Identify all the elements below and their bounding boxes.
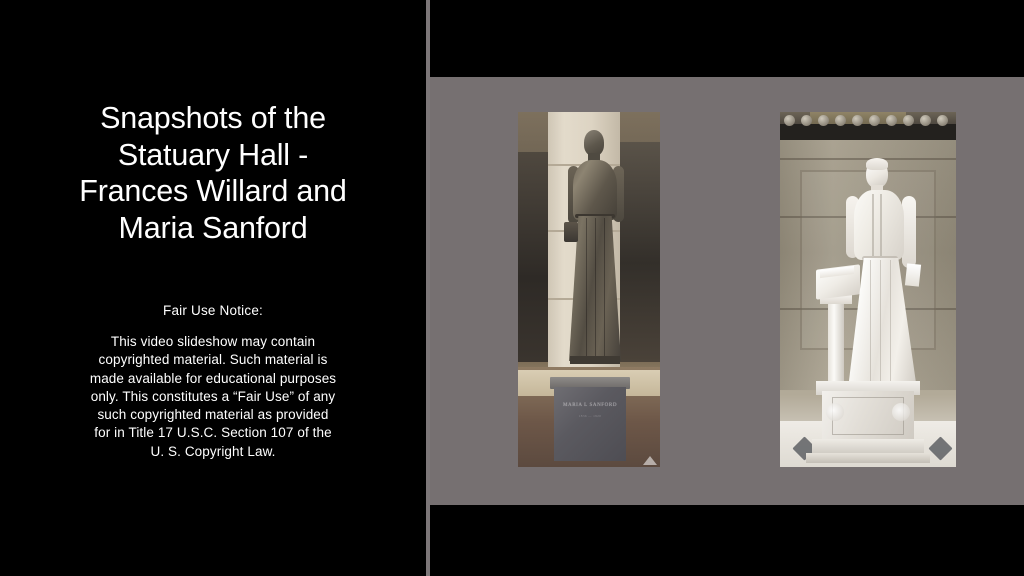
title-line-1: Snapshots of the bbox=[40, 100, 386, 137]
willard-garland-ornament bbox=[892, 403, 910, 421]
willard-bodice-fold bbox=[880, 194, 882, 256]
sanford-drape-fold bbox=[604, 218, 605, 358]
sanford-held-book bbox=[564, 222, 578, 242]
sanford-granite-pedestal: MARIA L SANFORD 1836 — 1920 bbox=[554, 387, 626, 461]
willard-skirt-fold bbox=[880, 260, 881, 388]
rosette-icon bbox=[920, 115, 931, 126]
photo-maria-sanford-statue: MARIA L SANFORD 1836 — 1920 bbox=[518, 112, 660, 467]
willard-pedestal-plinth bbox=[806, 453, 930, 463]
willard-marble-figure bbox=[842, 160, 922, 396]
sanford-bronze-figure bbox=[564, 130, 626, 368]
title-line-4: Maria Sanford bbox=[40, 210, 386, 247]
rosette-icon bbox=[818, 115, 829, 126]
letterbox-bar-bottom bbox=[430, 505, 1024, 576]
willard-bodice bbox=[854, 190, 904, 260]
fair-use-line-6: for in Title 17 U.S.C. Section 107 of th… bbox=[55, 424, 371, 442]
willard-right-arm bbox=[902, 196, 916, 268]
sanford-pedestal-inscription: MARIA L SANFORD bbox=[554, 403, 626, 408]
willard-hair bbox=[866, 158, 888, 170]
rosette-icon bbox=[835, 115, 846, 126]
sanford-corner-highlight bbox=[643, 456, 657, 465]
fair-use-line-5: such copyrighted material as provided bbox=[55, 406, 371, 424]
rosette-icon bbox=[869, 115, 880, 126]
rosette-icon bbox=[784, 115, 795, 126]
rosette-icon bbox=[903, 115, 914, 126]
sanford-bg-dark-left bbox=[518, 152, 550, 362]
rosette-icon bbox=[852, 115, 863, 126]
fair-use-notice: Fair Use Notice: This video slideshow ma… bbox=[55, 302, 371, 461]
fair-use-line-7: U. S. Copyright Law. bbox=[55, 443, 371, 461]
rosette-icon bbox=[886, 115, 897, 126]
sanford-bg-dark-right bbox=[620, 142, 660, 362]
rosette-icon bbox=[801, 115, 812, 126]
title-line-2: Statuary Hall - bbox=[40, 137, 386, 174]
fair-use-line-1: This video slideshow may contain bbox=[55, 333, 371, 351]
page-title: Snapshots of the Statuary Hall - Frances… bbox=[40, 100, 386, 246]
photo-frances-willard-statue: FRANCES E WILLARD bbox=[780, 112, 956, 467]
willard-skirt-fold bbox=[870, 260, 871, 388]
fair-use-line-2: copyrighted material. Such material is bbox=[55, 351, 371, 369]
title-line-3: Frances Willard and bbox=[40, 173, 386, 210]
sanford-drape-fold bbox=[595, 218, 596, 358]
title-text-panel: Snapshots of the Statuary Hall - Frances… bbox=[0, 0, 426, 576]
willard-skirt-fold bbox=[890, 260, 891, 388]
sanford-torso bbox=[573, 160, 617, 220]
sanford-drape-fold bbox=[586, 218, 587, 358]
fair-use-line-3: made available for educational purposes bbox=[55, 370, 371, 388]
fair-use-line-4: only. This constitutes a “Fair Use” of a… bbox=[55, 388, 371, 406]
willard-held-papers bbox=[905, 263, 921, 286]
willard-dark-frieze bbox=[780, 124, 956, 140]
fair-use-body: This video slideshow may contain copyrig… bbox=[55, 333, 371, 461]
rosette-icon bbox=[937, 115, 948, 126]
willard-garland-ornament bbox=[826, 403, 844, 421]
fair-use-heading: Fair Use Notice: bbox=[55, 302, 371, 319]
willard-bodice-fold bbox=[872, 194, 874, 256]
sanford-figure-base bbox=[570, 356, 620, 364]
sanford-pedestal-subtext: 1836 — 1920 bbox=[554, 414, 626, 418]
letterbox-bar-top bbox=[430, 0, 1024, 77]
